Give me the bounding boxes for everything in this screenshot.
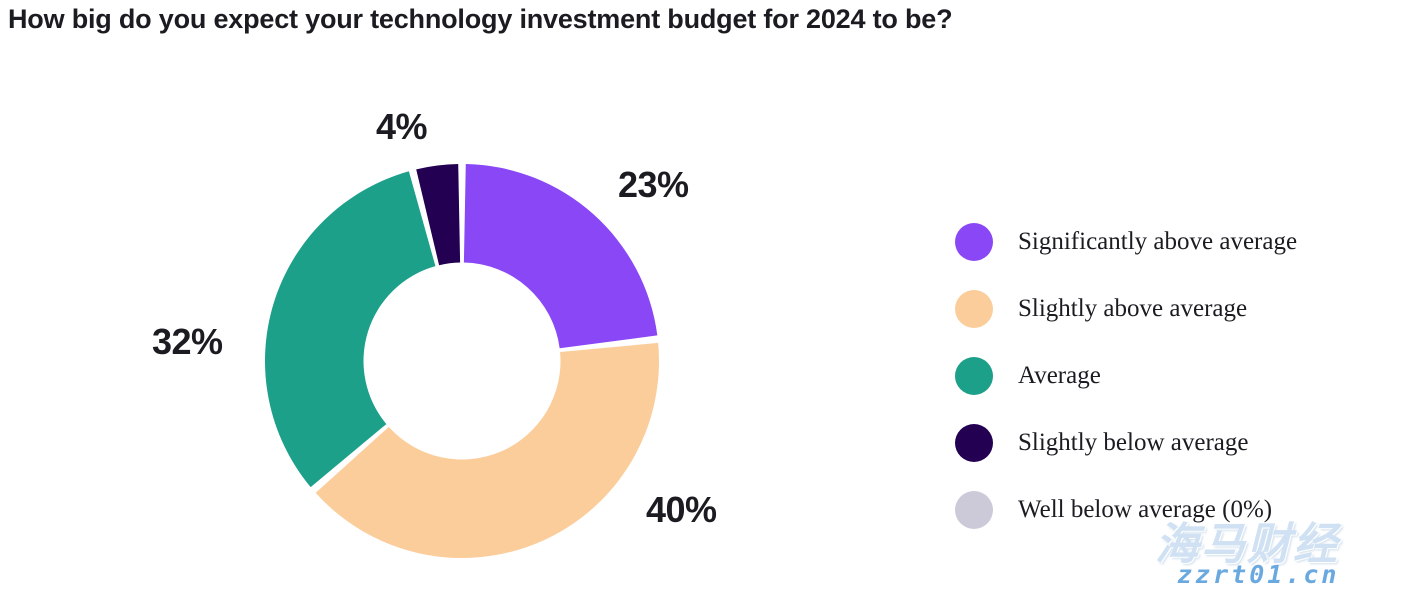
legend-item-label: Average [1018, 362, 1101, 390]
legend-color-swatch-icon [955, 290, 993, 328]
slice-value-label-slightly-above-average: 40% [646, 489, 717, 531]
page-title: How big do you expect your technology in… [8, 4, 1348, 35]
legend-item-slightly-below-average[interactable]: Slightly below average [955, 409, 1395, 476]
donut-chart [265, 164, 659, 558]
legend-item-label: Slightly below average [1018, 429, 1249, 457]
legend-item-average[interactable]: Average [955, 342, 1395, 409]
donut-slice[interactable] [265, 171, 435, 487]
chart-legend: Significantly above average Slightly abo… [955, 208, 1395, 543]
legend-color-swatch-icon [955, 223, 993, 261]
watermark-domain-text: zzrt01.cn [1177, 560, 1339, 589]
legend-color-swatch-icon [955, 424, 993, 462]
legend-item-significantly-above-average[interactable]: Significantly above average [955, 208, 1395, 275]
legend-item-label: Significantly above average [1018, 228, 1297, 256]
legend-color-swatch-icon [955, 357, 993, 395]
slice-value-label-significantly-above-average: 23% [618, 164, 689, 206]
legend-item-slightly-above-average[interactable]: Slightly above average [955, 275, 1395, 342]
legend-item-label: Well below average (0%) [1018, 496, 1272, 524]
slice-value-label-average: 32% [152, 321, 223, 363]
legend-color-swatch-icon [955, 491, 993, 529]
slice-value-label-slightly-below-average: 4% [376, 106, 427, 148]
donut-slice[interactable] [316, 343, 659, 558]
legend-item-well-below-average[interactable]: Well below average (0%) [955, 476, 1395, 543]
donut-chart-svg [265, 164, 659, 558]
legend-item-label: Slightly above average [1018, 295, 1247, 323]
